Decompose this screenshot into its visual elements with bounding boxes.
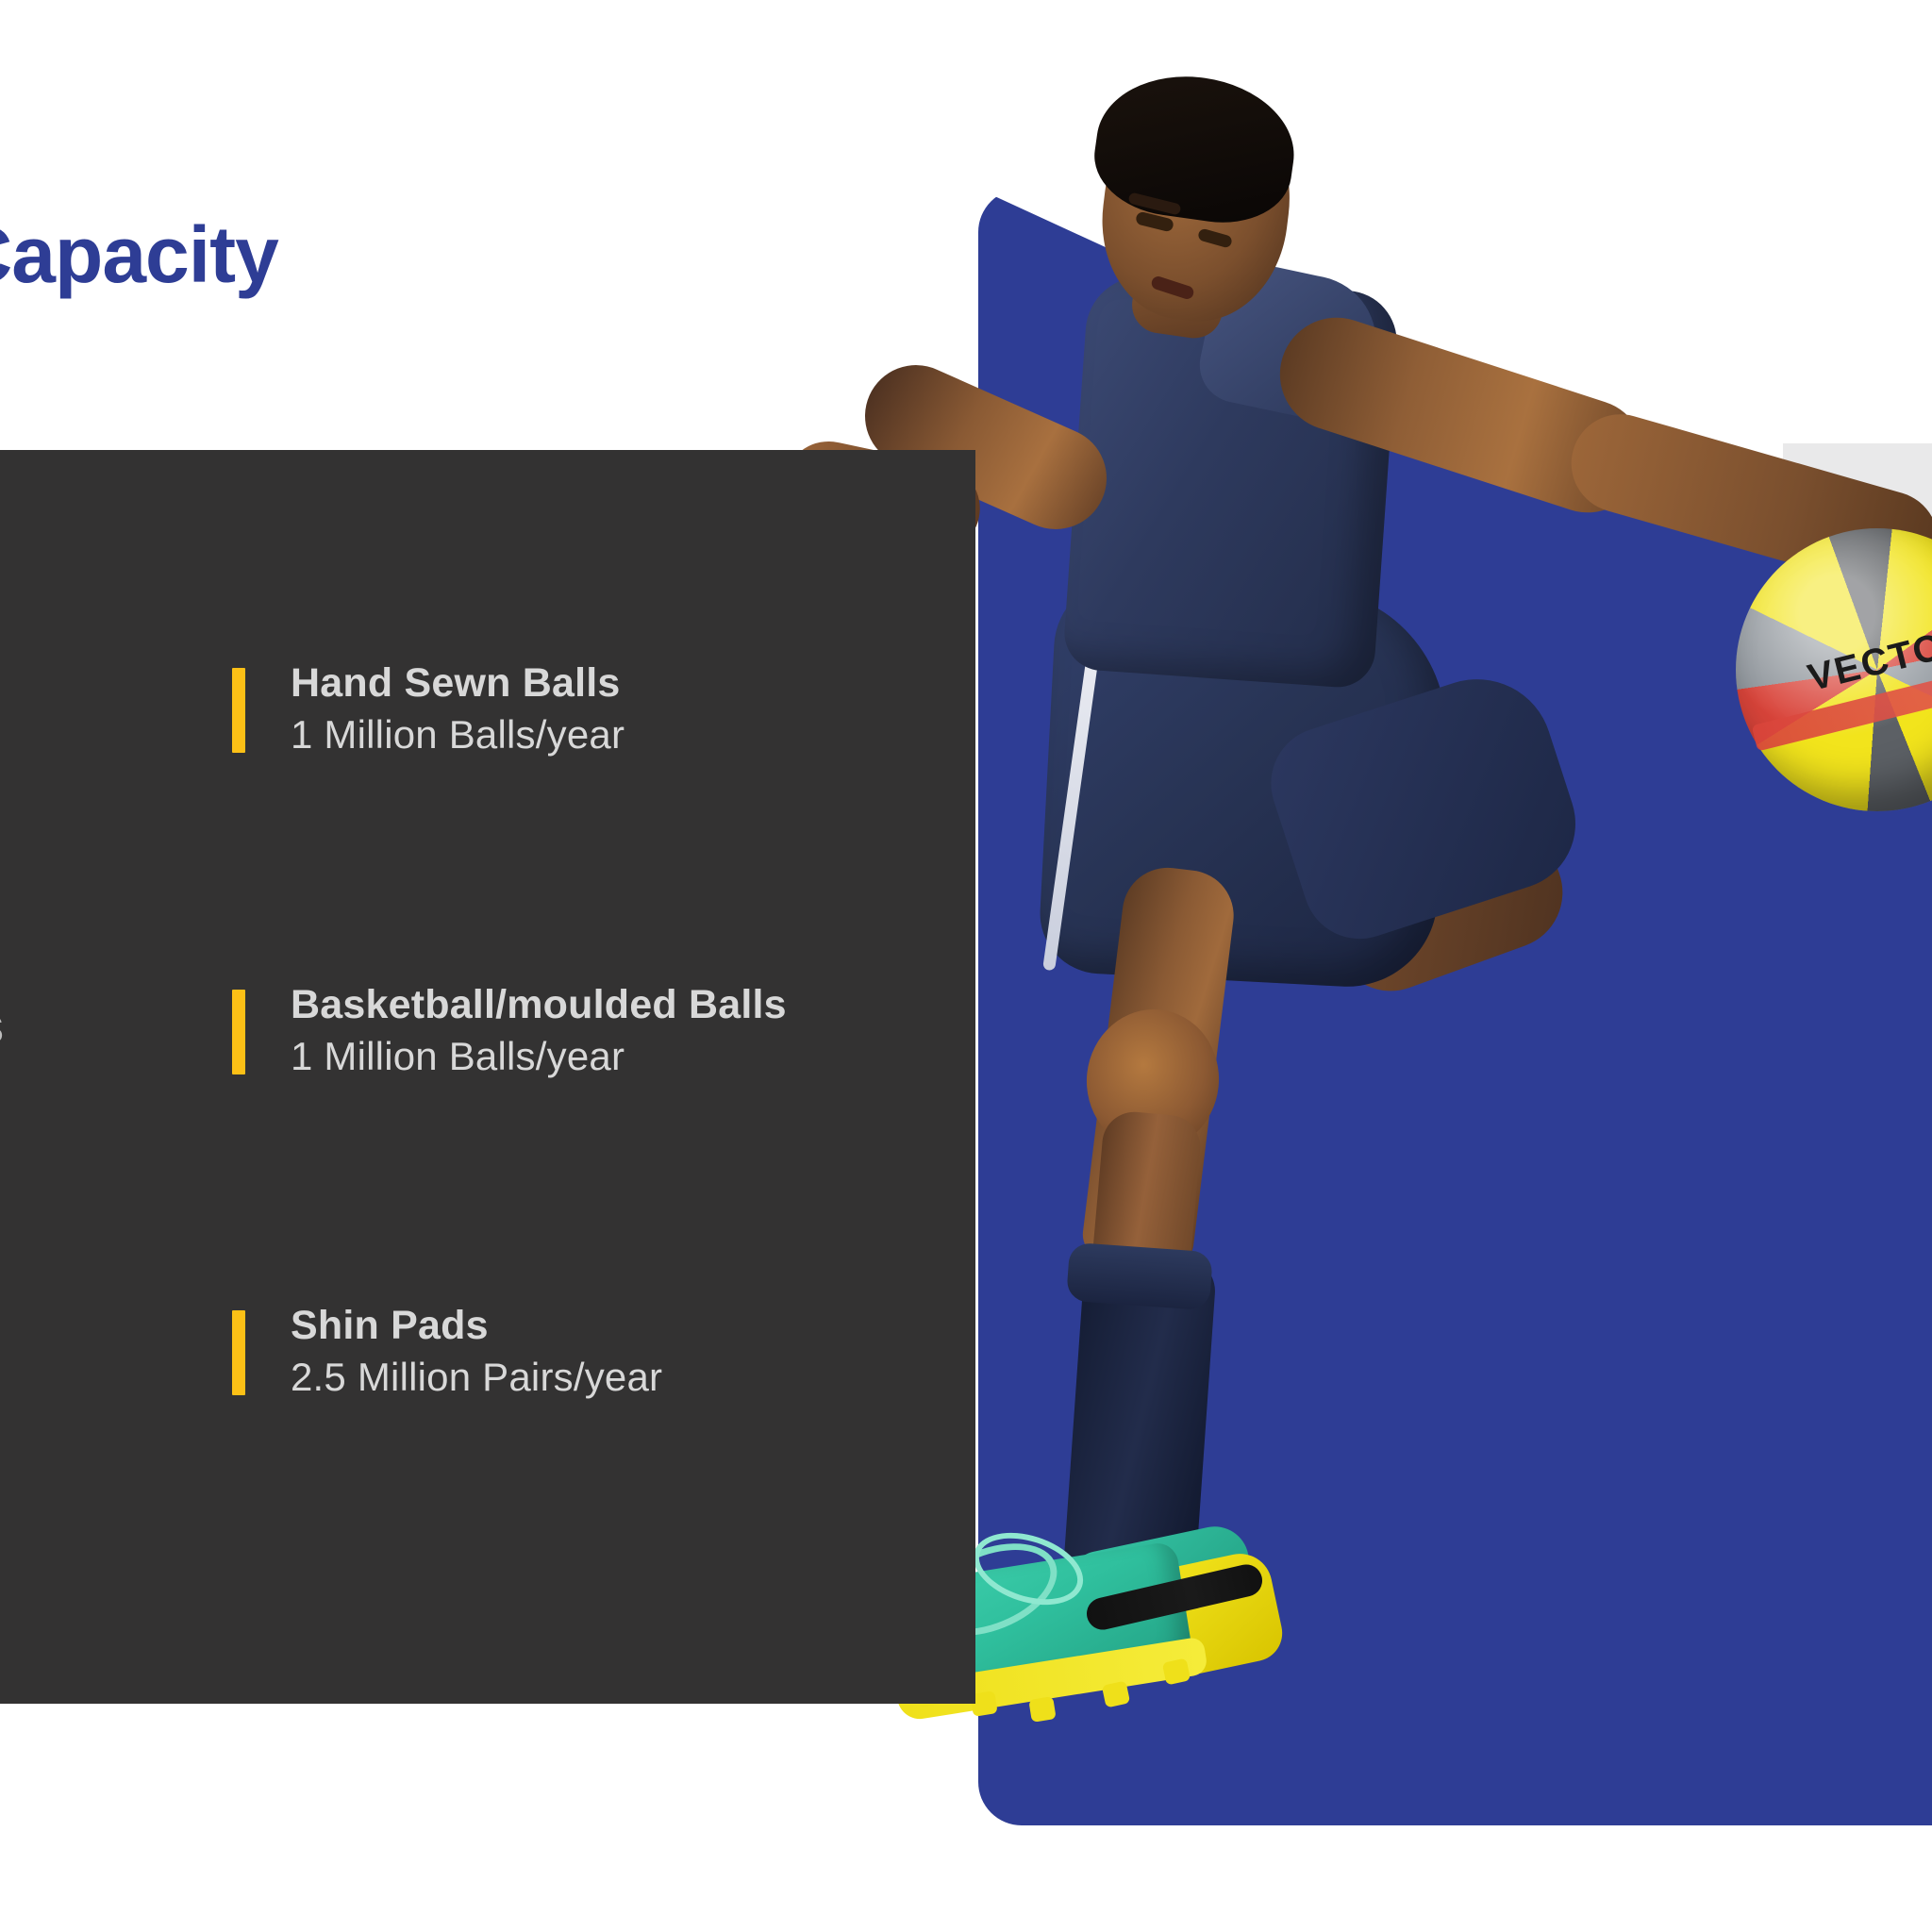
capacity-item-label: Shin Pads — [291, 1303, 949, 1348]
capacity-item-label: Basketball/moulded Balls — [291, 982, 949, 1027]
boot-stud — [1102, 1681, 1130, 1708]
capacity-item-value: 2.5 Million Pairs/year — [291, 1354, 949, 1401]
capacity-item-value: 1 Million Balls/year — [291, 1033, 949, 1080]
sock-cuff — [1066, 1242, 1213, 1310]
player-photo: VECTO — [962, 57, 1932, 1821]
accent-bar-icon — [232, 668, 245, 753]
capacity-list: Hand Sewn Balls 1 Million Balls/year Bas… — [232, 660, 949, 1402]
slide-canvas: VECTO n Capacity s Hand Sewn Balls 1 Mil… — [0, 0, 1932, 1932]
boot-stud — [1028, 1696, 1056, 1723]
accent-bar-icon — [232, 1310, 245, 1395]
page-title: n Capacity — [0, 209, 278, 301]
list-item: Shin Pads 2.5 Million Pairs/year — [232, 1303, 949, 1402]
clipped-text-fragment: s — [0, 998, 4, 1055]
capacity-item-value: 1 Million Balls/year — [291, 711, 949, 758]
capacity-item-label: Hand Sewn Balls — [291, 660, 949, 706]
list-item: Basketball/moulded Balls 1 Million Balls… — [232, 982, 949, 1081]
list-item: Hand Sewn Balls 1 Million Balls/year — [232, 660, 949, 759]
accent-bar-icon — [232, 990, 245, 1074]
boot-stud — [1162, 1658, 1191, 1686]
